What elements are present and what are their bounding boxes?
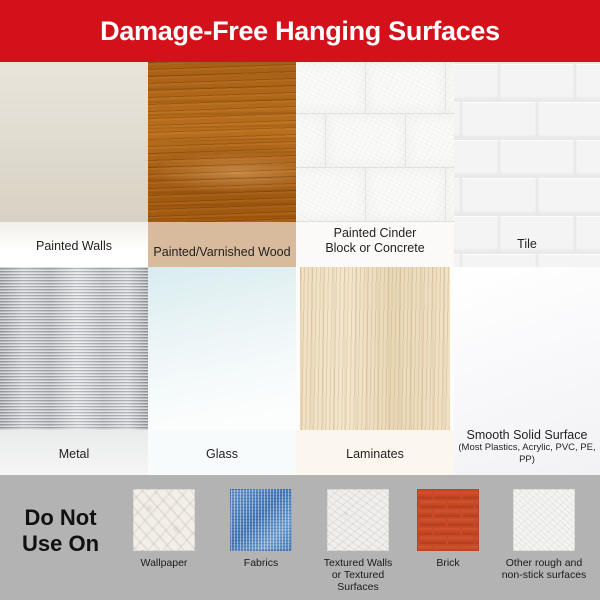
other-rough-label-line2: non-stick surfaces <box>502 569 587 581</box>
brick-thumbnail <box>417 489 479 551</box>
do-not-use-item-textured-walls[interactable]: Textured Walls or Textured Surfaces <box>310 489 406 593</box>
do-not-use-item-other-rough[interactable]: Other rough and non-stick surfaces <box>496 489 592 581</box>
metal-label: Metal <box>0 447 148 462</box>
smooth-solid-surface-label-main: Smooth Solid Surface <box>467 428 588 442</box>
approved-surfaces-grid: Painted Walls Painted/Varnished Wood <box>0 62 600 475</box>
infographic-page: Damage-Free Hanging Surfaces Painted Wal… <box>0 0 600 600</box>
do-not-use-item-fabrics[interactable]: Fabrics <box>213 489 309 569</box>
smooth-solid-surface-sublabel: (Most Plastics, Acrylic, PVC, PE, PP) <box>454 442 600 465</box>
painted-cinder-block-label: Painted Cinder Block or Concrete <box>296 226 454 255</box>
surface-cell-laminates[interactable]: Laminates <box>296 267 454 475</box>
laminates-swatch <box>300 267 450 430</box>
surface-cell-painted-cinder-block[interactable]: Painted Cinder Block or Concrete <box>296 62 454 267</box>
fabrics-thumbnail <box>230 489 292 551</box>
do-not-use-title-line1: Do Not <box>24 505 96 530</box>
do-not-use-title-line2: Use On <box>22 531 99 556</box>
glass-label: Glass <box>148 447 296 462</box>
do-not-use-title: Do Not Use On <box>8 505 113 557</box>
textured-walls-label: Textured Walls or Textured Surfaces <box>310 557 406 593</box>
painted-walls-label: Painted Walls <box>0 239 148 254</box>
surface-cell-metal[interactable]: Metal <box>0 267 148 475</box>
painted-varnished-wood-label: Painted/Varnished Wood <box>148 245 296 260</box>
surface-cell-painted-varnished-wood[interactable]: Painted/Varnished Wood <box>148 62 296 267</box>
painted-cinder-block-label-line2: Block or Concrete <box>325 241 424 255</box>
do-not-use-item-brick[interactable]: Brick <box>400 489 496 569</box>
surface-cell-painted-walls[interactable]: Painted Walls <box>0 62 148 267</box>
wallpaper-thumbnail <box>133 489 195 551</box>
header-banner: Damage-Free Hanging Surfaces <box>0 0 600 62</box>
wallpaper-label: Wallpaper <box>116 557 212 569</box>
other-rough-thumbnail <box>513 489 575 551</box>
surface-cell-smooth-solid-surface[interactable]: Smooth Solid Surface (Most Plastics, Acr… <box>454 267 600 475</box>
other-rough-label: Other rough and non-stick surfaces <box>496 557 592 581</box>
laminates-label: Laminates <box>296 447 454 462</box>
page-title: Damage-Free Hanging Surfaces <box>100 16 500 47</box>
textured-walls-label-line1: Textured Walls <box>324 557 392 569</box>
surface-cell-glass[interactable]: Glass <box>148 267 296 475</box>
textured-walls-label-line2: or Textured Surfaces <box>332 569 384 593</box>
surface-cell-tile[interactable]: Tile <box>454 62 600 267</box>
smooth-solid-surface-label: Smooth Solid Surface (Most Plastics, Acr… <box>454 428 600 466</box>
tile-label: Tile <box>454 237 600 252</box>
do-not-use-item-wallpaper[interactable]: Wallpaper <box>116 489 212 569</box>
other-rough-label-line1: Other rough and <box>506 557 582 569</box>
do-not-use-section: Do Not Use On Wallpaper Fabrics Textured… <box>0 475 600 600</box>
textured-walls-thumbnail <box>327 489 389 551</box>
brick-label: Brick <box>400 557 496 569</box>
fabrics-label: Fabrics <box>213 557 309 569</box>
painted-cinder-block-label-line1: Painted Cinder <box>334 226 417 240</box>
